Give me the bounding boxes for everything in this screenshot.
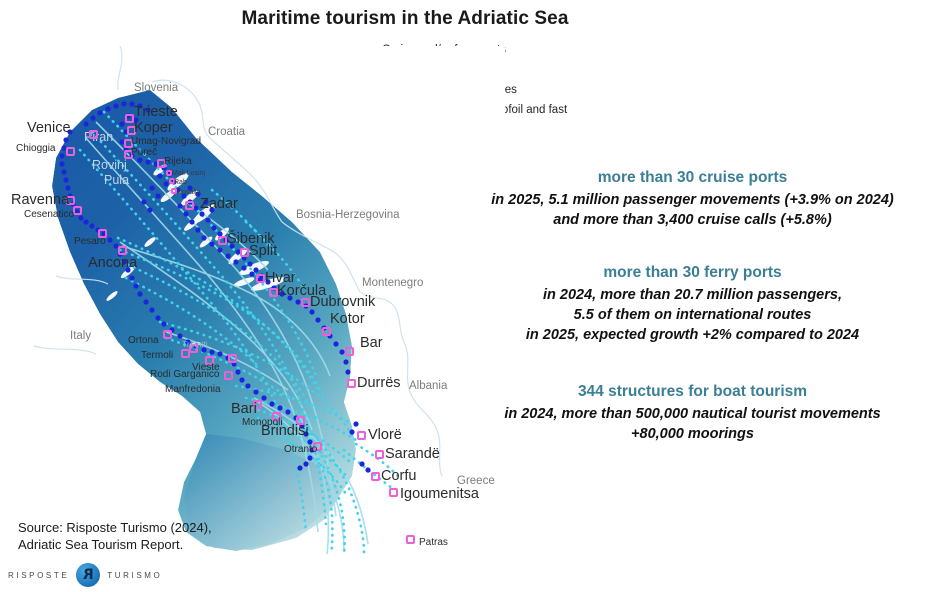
logo-word-right: TURISMO <box>107 571 162 580</box>
risposte-turismo-logo: RISPOSTE R TURISMO <box>8 563 162 587</box>
port-label-ravenna: Ravenna <box>11 194 69 206</box>
port-label-patras: Patras <box>419 537 448 549</box>
logo-glyph: R <box>83 568 94 582</box>
stat-block-ferry-ports: more than 30 ferry ports in 2024, more t… <box>440 263 945 345</box>
port-label-venice: Venice <box>27 122 71 134</box>
port-marker-patras[interactable] <box>406 535 415 544</box>
port-label-zadar: Zadar <box>200 198 238 210</box>
country-label-italy: Italy <box>70 330 91 342</box>
logo-circle-icon: R <box>76 563 100 587</box>
country-label-slovenia: Slovenia <box>134 82 178 94</box>
port-marker-ancona[interactable] <box>118 246 127 255</box>
port-label-novalja: Novalja <box>177 187 200 199</box>
country-label-bosnia-herzegovina: Bosnia-Herzegovina <box>296 209 400 221</box>
port-marker-ortona[interactable] <box>163 330 172 339</box>
port-label-cesenatico: Cesenatico <box>24 209 74 221</box>
stat-heading: more than 30 ferry ports <box>440 263 945 282</box>
stat-heading: 344 structures for boat tourism <box>440 382 945 401</box>
stat-block-cruise-ports: more than 30 cruise ports in 2025, 5.1 m… <box>440 168 945 230</box>
port-marker-cesenatico[interactable] <box>73 206 82 215</box>
port-label-ancona: Ancona <box>88 257 137 269</box>
port-label-bar: Bar <box>360 337 383 349</box>
map-graphic <box>0 46 505 556</box>
port-marker-dubrovnik[interactable] <box>301 298 310 307</box>
port-marker-sarande[interactable] <box>375 450 384 459</box>
stat-line: 5.5 of them on international routes <box>440 305 945 325</box>
port-marker-hvar[interactable] <box>256 274 265 283</box>
port-label-corfu: Corfu <box>381 470 416 482</box>
stat-line: in 2024, more than 20.7 million passenge… <box>440 285 945 305</box>
adriatic-sea-map: Slovenia Croatia Bosnia-Herzegovina Mont… <box>0 46 505 556</box>
stat-line: in 2024, more than 500,000 nautical tour… <box>440 404 945 424</box>
port-label-rijeka: Rijeka <box>164 156 192 168</box>
port-label-trieste: Trieste <box>134 106 178 118</box>
port-label-sarande: Sarandë <box>385 448 440 460</box>
port-marker-split[interactable] <box>240 248 249 257</box>
port-marker-trieste[interactable] <box>125 114 134 123</box>
source-line-1: Source: Risposte Turismo (2024), <box>18 519 212 536</box>
port-label-porec: Poreč <box>131 147 157 159</box>
port-marker-igoumenitsa[interactable] <box>389 488 398 497</box>
port-label-termoli: Termoli <box>141 350 173 362</box>
source-note: Source: Risposte Turismo (2024), Adriati… <box>18 519 212 553</box>
port-label-durres: Durrës <box>357 377 401 389</box>
port-marker-zadar[interactable] <box>185 201 194 210</box>
stat-block-boat-tourism: 344 structures for boat tourism in 2024,… <box>440 382 945 444</box>
infographic-canvas: Maritime tourism in the Adriatic Sea Cru… <box>0 0 945 592</box>
port-marker-kotor[interactable] <box>322 327 331 336</box>
stat-heading: more than 30 cruise ports <box>440 168 945 187</box>
port-label-bari: Bari <box>231 403 257 415</box>
port-marker-corfu[interactable] <box>371 472 380 481</box>
port-marker-termoli[interactable] <box>181 349 190 358</box>
logo-word-left: RISPOSTE <box>8 571 69 580</box>
port-label-koper: Koper <box>134 122 173 134</box>
port-label-vlore: Vlorë <box>368 429 402 441</box>
port-marker-vieste[interactable] <box>228 354 237 363</box>
stat-line: +80,000 moorings <box>440 424 945 444</box>
port-label-kotor: Kotor <box>330 313 365 325</box>
stat-line: and more than 3,400 cruise calls (+5.8%) <box>440 210 945 230</box>
page-title: Maritime tourism in the Adriatic Sea <box>0 8 810 30</box>
port-label-dubrovnik: Dubrovnik <box>310 296 375 308</box>
city-label-pula: Pula <box>104 174 129 186</box>
port-marker-manfredonia[interactable] <box>224 371 233 380</box>
stat-line: in 2025, expected growth +2% compared to… <box>440 325 945 345</box>
port-label-chioggia: Chioggia <box>16 143 55 155</box>
port-marker-chioggia[interactable] <box>66 147 75 156</box>
port-marker-vlore[interactable] <box>357 431 366 440</box>
port-marker-durres[interactable] <box>347 379 356 388</box>
port-marker-bar[interactable] <box>345 347 354 356</box>
country-label-croatia: Croatia <box>208 126 245 138</box>
port-label-manfredonia: Manfredonia <box>165 384 221 396</box>
port-label-tremiti: Tremiti <box>182 338 208 350</box>
city-label-rovinj: Rovinj <box>92 159 127 171</box>
port-label-rodi-garganico: Rodi Garganico <box>150 369 219 381</box>
port-marker-venice[interactable] <box>89 130 98 139</box>
country-label-montenegro: Montenegro <box>362 277 423 289</box>
port-label-split: Split <box>249 245 277 257</box>
port-label-igoumenitsa: Igoumenitsa <box>400 488 479 500</box>
port-label-otranto: Otranto <box>284 444 317 456</box>
port-label-ortona: Ortona <box>128 335 159 347</box>
port-marker-sibenik[interactable] <box>218 236 227 245</box>
port-label-brindisi: Brindisi <box>261 425 309 437</box>
stat-line: in 2025, 5.1 million passenger movements… <box>440 190 945 210</box>
port-label-pesaro: Pesaro <box>74 236 106 248</box>
source-line-2: Adriatic Sea Tourism Report. <box>18 536 212 553</box>
